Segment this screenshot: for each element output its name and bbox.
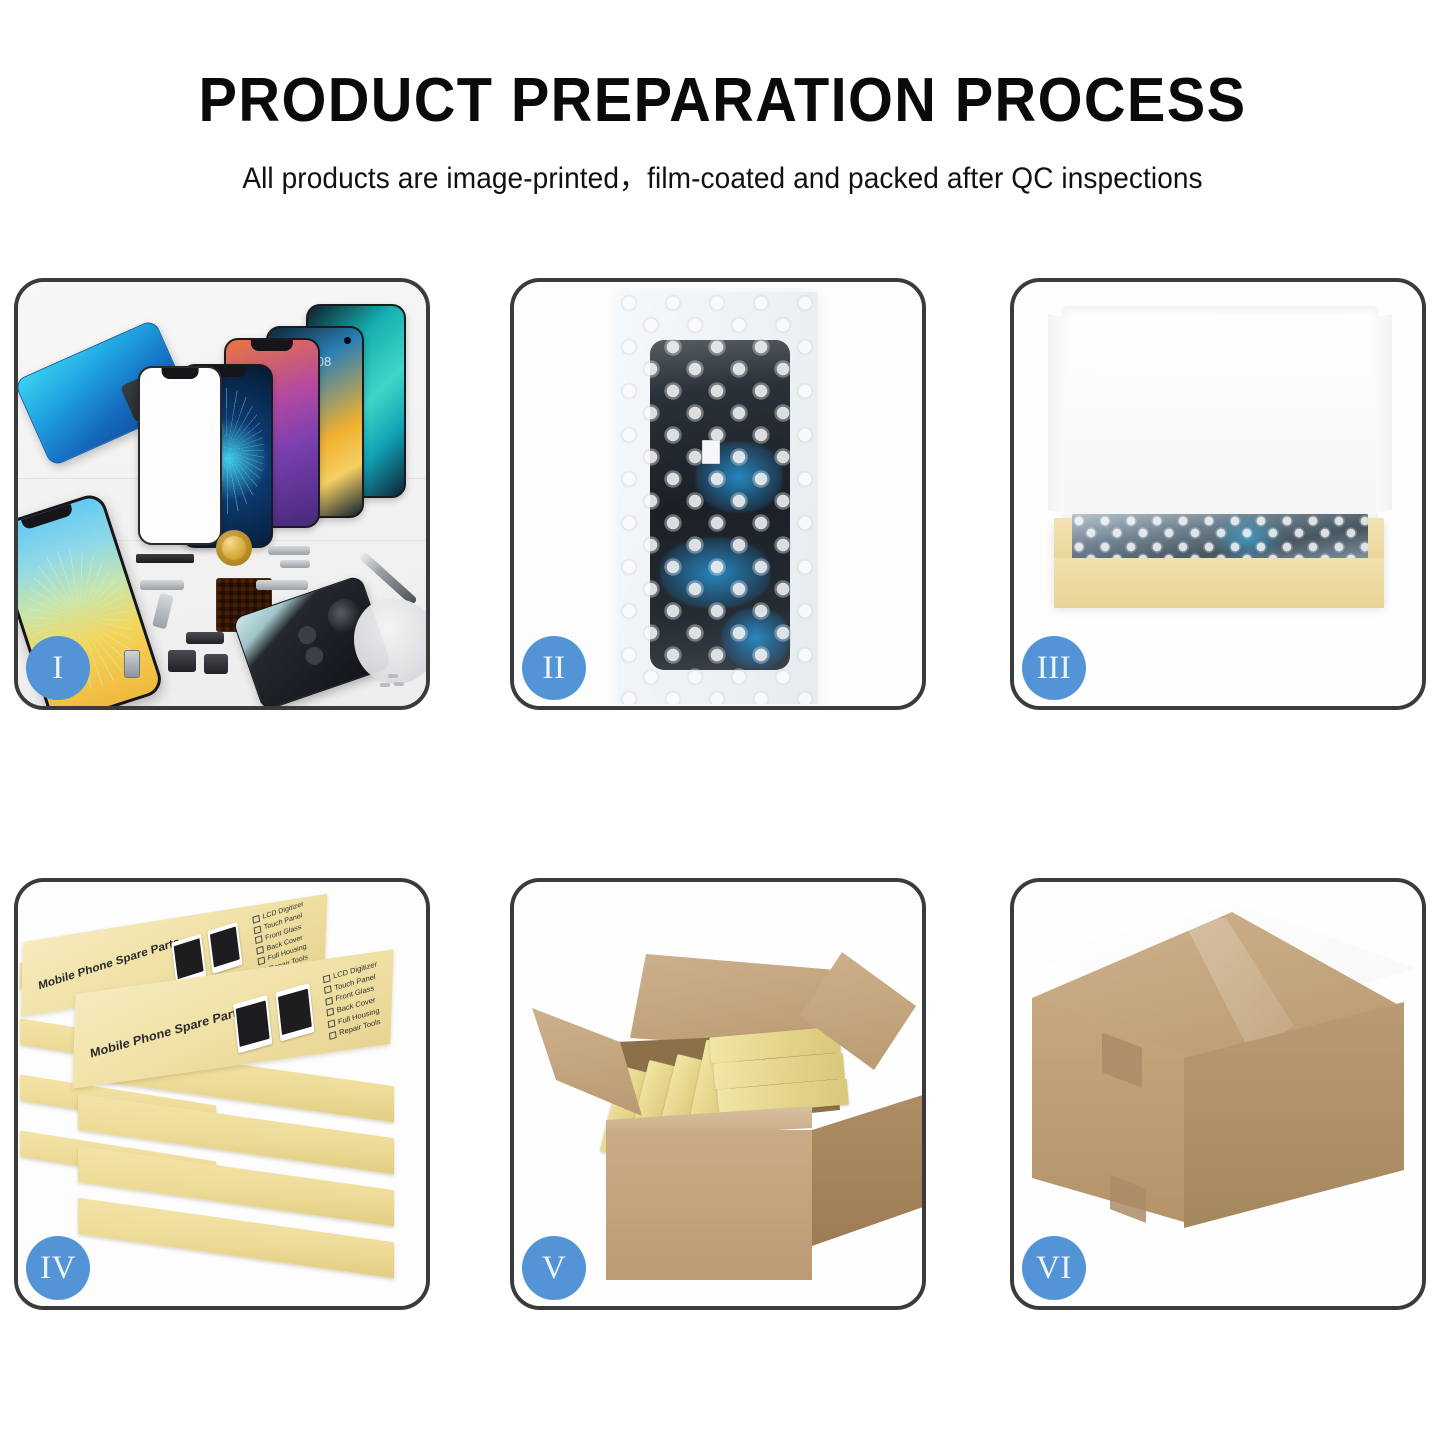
page-title: PRODUCT PREPARATION PROCESS [51, 0, 1395, 133]
step-panel-2[interactable]: II [510, 278, 926, 710]
step-panel-3[interactable]: III [1010, 278, 1426, 710]
bubble-wrap-sheet [618, 292, 818, 704]
step-badge-4: IV [26, 1236, 90, 1300]
power-flex-part [256, 580, 308, 590]
step-badge-3: III [1022, 636, 1086, 700]
process-steps-grid: 08:08 [14, 278, 1432, 1310]
sim-tray-part [124, 650, 140, 678]
box-art-screen [207, 922, 242, 974]
bubble-wrap-texture [1072, 514, 1368, 562]
front-glass-icon [138, 366, 222, 545]
page-header: PRODUCT PREPARATION PROCESS All products… [0, 0, 1445, 197]
mailer-tray-front-wall [1054, 558, 1384, 608]
step-badge-5: V [522, 1236, 586, 1300]
mailer-inner-liner [1064, 374, 1376, 534]
box-art-screen [275, 983, 314, 1041]
flex-cable-part [280, 560, 310, 568]
step-5-image [514, 882, 922, 1306]
flex-cable-part [268, 546, 310, 555]
carton-front-face [606, 1130, 812, 1280]
step-6-image [1014, 882, 1422, 1306]
box-art-screen [233, 995, 272, 1053]
wrapped-screen-in-tray [1072, 514, 1368, 562]
step-panel-6[interactable]: VI [1010, 878, 1426, 1310]
page-subtitle: All products are image-printed，film-coat… [36, 133, 1409, 197]
step-4-image: Mobile Phone Spare Parts LCD Digitizer T… [18, 882, 426, 1306]
box-title-text: Mobile Phone Spare Parts [90, 1004, 245, 1061]
step-badge-1: I [26, 636, 90, 700]
step-1-image: 08:08 [18, 282, 426, 706]
box-checklist-front: LCD Digitizer Touch Panel Front Glass Ba… [323, 958, 384, 1041]
bubble-wrap-texture [618, 292, 818, 704]
step-badge-6: VI [1022, 1236, 1086, 1300]
earpiece-mesh-part [136, 554, 194, 563]
speaker-part [186, 632, 224, 644]
qc-sticker-label [702, 440, 720, 464]
notch-icon [251, 340, 293, 351]
notch-icon [162, 368, 199, 379]
step-panel-4[interactable]: Mobile Phone Spare Parts LCD Digitizer T… [14, 878, 430, 1310]
step-3-image [1014, 282, 1422, 706]
step-badge-2: II [522, 636, 586, 700]
screws-part [388, 674, 398, 678]
taptic-engine-part [216, 530, 252, 566]
step-2-image [514, 282, 922, 706]
step-panel-5[interactable]: V [510, 878, 926, 1310]
step-panel-1[interactable]: 08:08 [14, 278, 430, 710]
loudspeaker-part [204, 654, 228, 674]
camera-module-part [168, 650, 196, 672]
volume-flex-part [140, 580, 184, 590]
punch-hole-icon [344, 337, 351, 344]
